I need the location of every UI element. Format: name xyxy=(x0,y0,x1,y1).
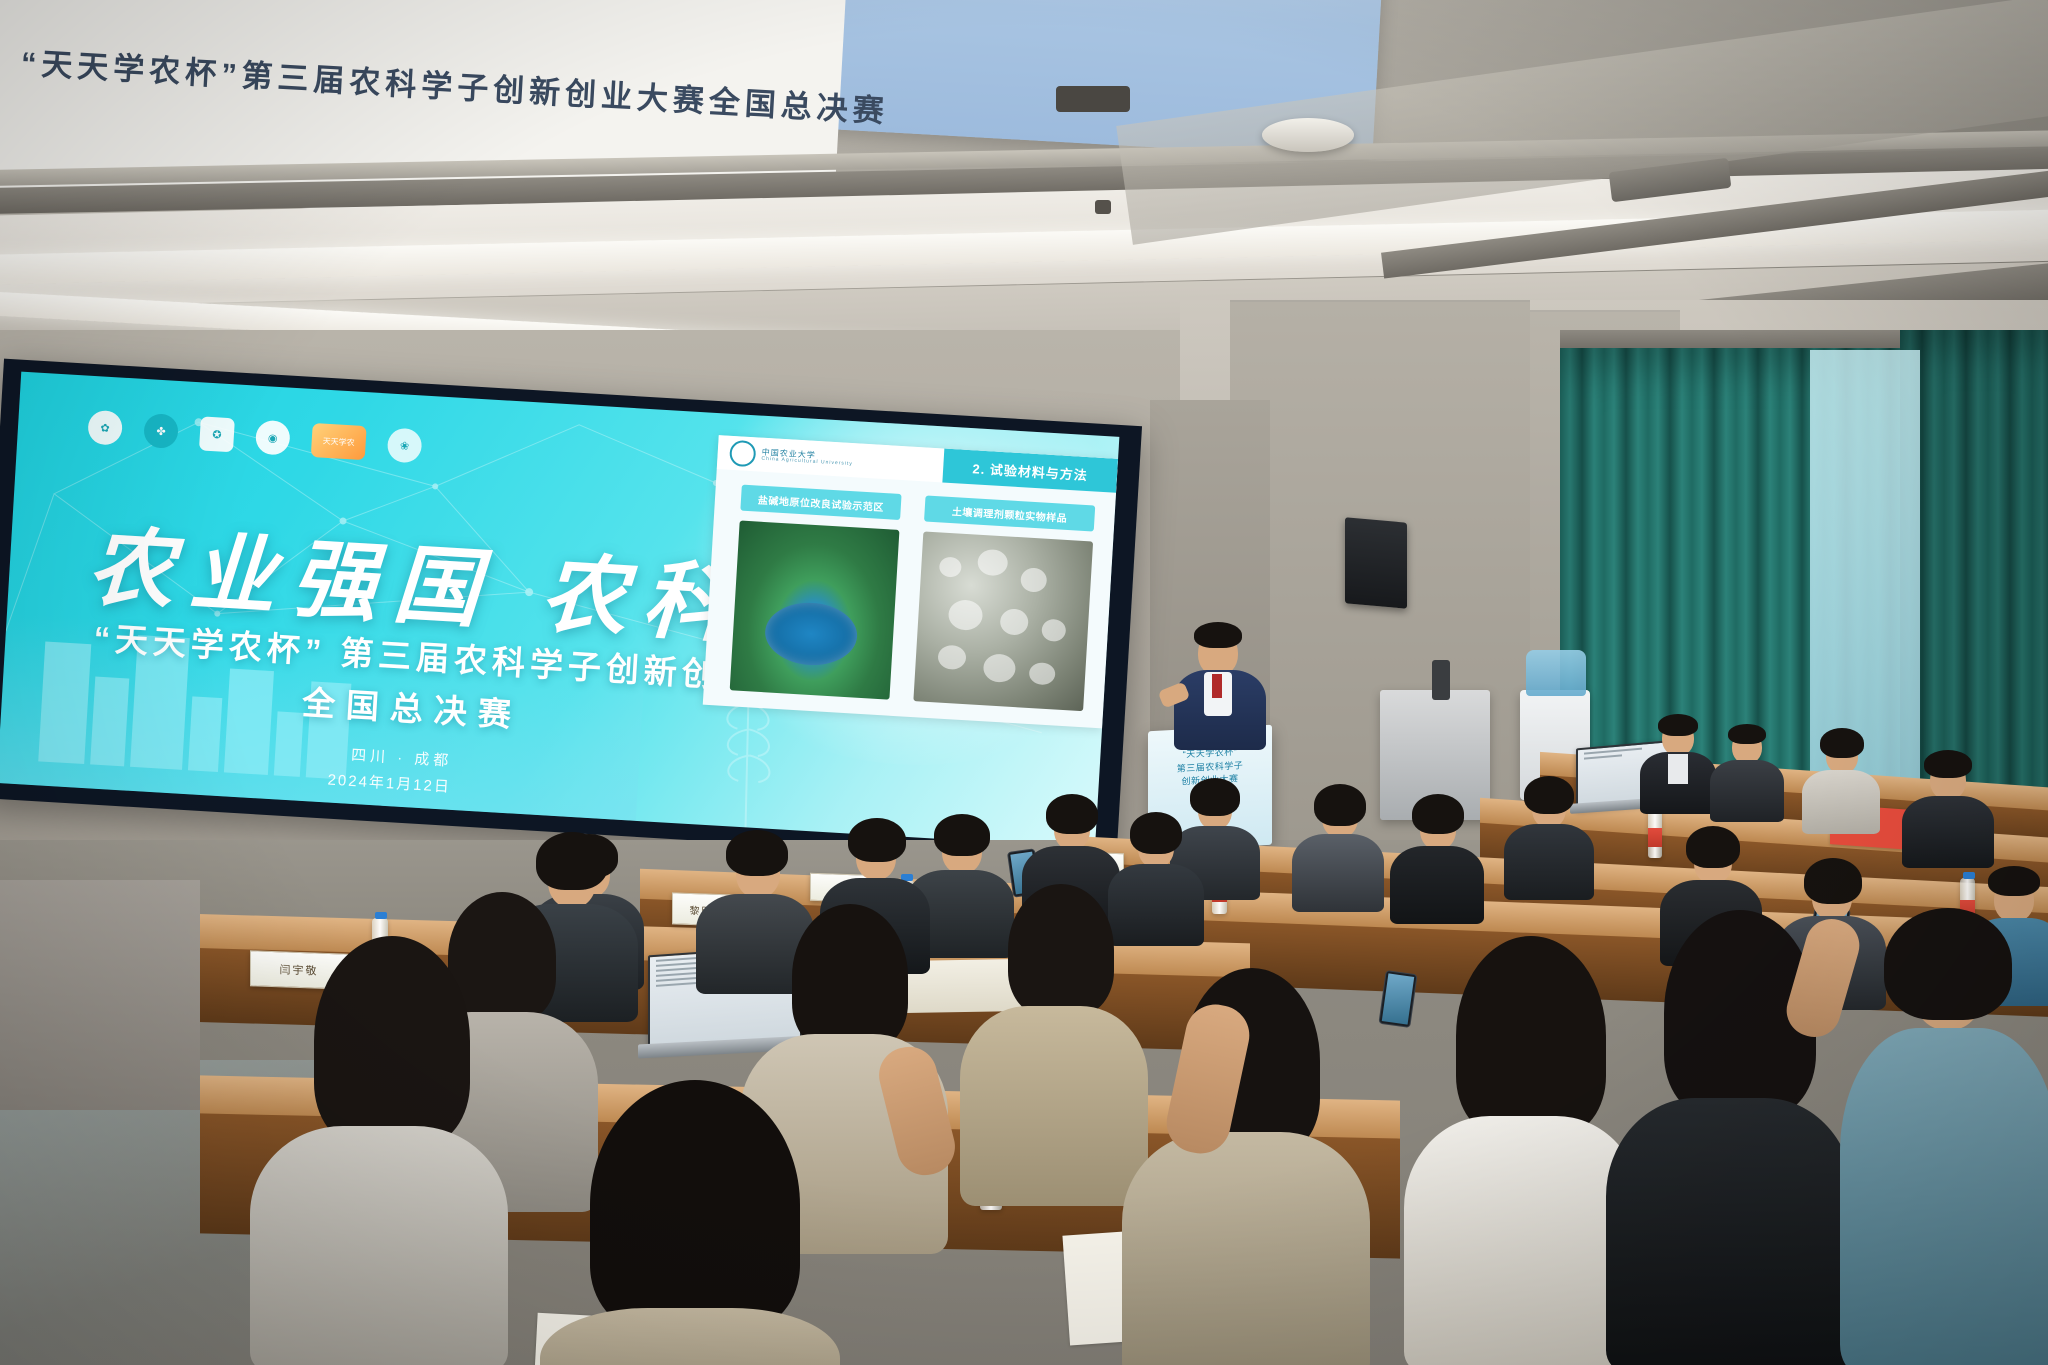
audience-person-27 xyxy=(540,1080,840,1365)
soil-granules-photo xyxy=(913,531,1093,711)
slide-caption-right: 土壤调理剂颗粒实物样品 xyxy=(924,495,1095,531)
organizer-logo-2-icon: ✤ xyxy=(143,413,179,449)
audience-person-2 xyxy=(1708,716,1788,812)
audience-person-4 xyxy=(1900,742,1996,852)
audience-person-7 xyxy=(1290,778,1386,894)
audience-person-26 xyxy=(250,930,510,1365)
ceiling-vent xyxy=(1056,86,1130,112)
organizer-logo-6-icon: ❀ xyxy=(387,428,423,464)
wall-speaker xyxy=(1345,517,1407,608)
audience-person-3 xyxy=(1798,722,1884,822)
ceiling-sprinkler xyxy=(1095,200,1111,214)
presenter-person xyxy=(1160,612,1280,742)
led-video-wall-frame: ✿ ✤ ✪ ◉ 天天学农 ❀ 农业强国 农科先行 “天天学农杯” 第三届农科学子… xyxy=(0,359,1142,866)
slide-university-name: 中国农业大学 China Agricultural University xyxy=(761,447,853,467)
conference-hall-photo: 农业强国 农科先行 “天天学农杯”第三届农科学子创新创业大赛全国总决赛 xyxy=(0,0,2048,1365)
organizer-logo-1-icon: ✿ xyxy=(87,410,123,446)
organizer-logo-3-icon: ✪ xyxy=(199,416,235,452)
aerial-lake-photo xyxy=(730,520,900,699)
water-jug xyxy=(1526,650,1586,696)
audience-person-22 xyxy=(1122,960,1372,1365)
slide-caption-left: 盐碱地原位改良试验示范区 xyxy=(740,485,901,520)
audience-person-9 xyxy=(1502,772,1596,884)
university-logo-icon xyxy=(729,440,756,467)
left-wall-base xyxy=(0,880,200,1110)
organizer-logo-4-icon: ◉ xyxy=(255,420,291,456)
presentation-slide: 中国农业大学 China Agricultural University 2. … xyxy=(703,435,1118,728)
audience-person-8 xyxy=(1390,790,1486,906)
audience-person-25 xyxy=(1840,904,2048,1365)
organizer-logo-5-icon: 天天学农 xyxy=(311,423,367,460)
led-video-wall: ✿ ✤ ✪ ◉ 天天学农 ❀ 农业强国 农科先行 “天天学农杯” 第三届农科学子… xyxy=(0,372,1119,849)
ceiling-smoke-detector xyxy=(1262,118,1354,152)
cabinet-handle-icon xyxy=(1432,660,1450,700)
